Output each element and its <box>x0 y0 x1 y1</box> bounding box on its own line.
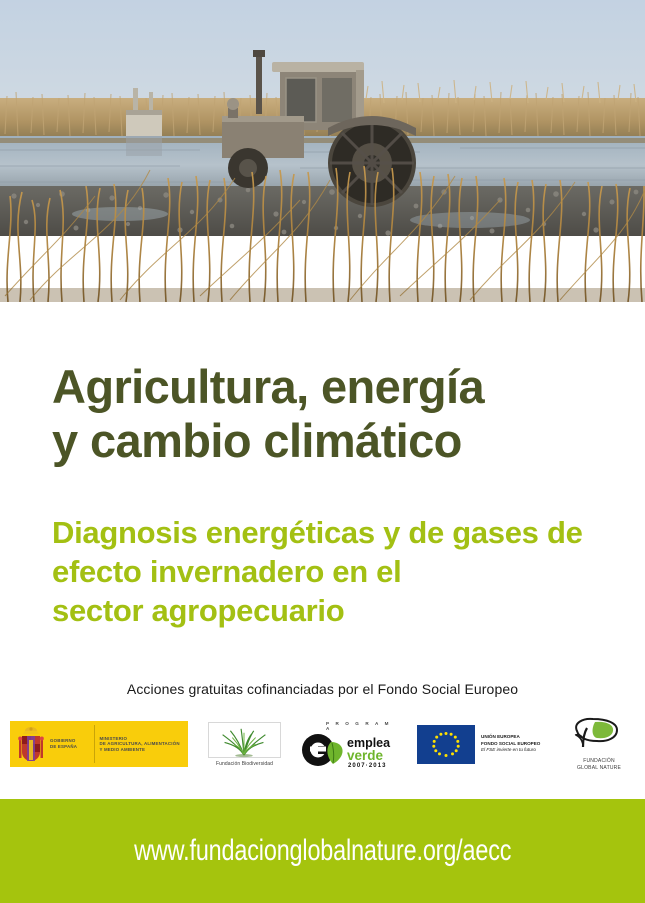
page-title: Agricultura, energía y cambio climático <box>52 360 612 468</box>
emplea-verde-mark: emplea verde 2007·2013 <box>301 732 397 768</box>
years-label: 2007·2013 <box>348 763 387 768</box>
grass-plant-icon <box>209 723 280 758</box>
logo-emplea-verde: P R O G R A M A emplea ver <box>301 721 397 768</box>
subtitle-line-2: efecto invernadero en el <box>52 552 622 591</box>
logo-strip: GOBIERNO DE ESPAÑA MINISTERIO DE AGRICUL… <box>0 712 645 776</box>
logo-gobierno-de-espana: GOBIERNO DE ESPAÑA MINISTERIO DE AGRICUL… <box>10 721 188 767</box>
website-url[interactable]: www.fundacionglobalnature.org/aecc <box>134 834 511 868</box>
subtitle-line-1: Diagnosis energéticas y de gases de <box>52 513 622 552</box>
funding-note: Acciones gratuitas cofinanciadas por el … <box>0 681 645 697</box>
cover-photograph <box>0 0 645 302</box>
gobierno-text: GOBIERNO DE ESPAÑA <box>50 738 89 749</box>
global-nature-caption: FUNDACIÓN GLOBAL NATURE <box>563 758 635 771</box>
fundacion-biodiversidad-caption: Fundación Biodiversidad <box>208 761 281 767</box>
cover-page: Agricultura, energía y cambio climático … <box>0 0 645 903</box>
page-subtitle: Diagnosis energéticas y de gases de efec… <box>52 513 622 630</box>
logo-fundacion-biodiversidad: Fundación Biodiversidad <box>208 722 281 767</box>
spanish-coat-of-arms-icon <box>16 726 46 762</box>
subtitle-line-3: sector agropecuario <box>52 591 622 630</box>
logo-union-europea: UNIÓN EUROPEA FONDO SOCIAL EUROPEO El FS… <box>417 725 543 764</box>
title-line-1: Agricultura, energía <box>52 360 612 414</box>
tree-icon <box>567 717 631 751</box>
programa-label: P R O G R A M A <box>326 721 397 731</box>
footer-bar: www.fundacionglobalnature.org/aecc <box>0 799 645 903</box>
logo-fundacion-global-nature: FUNDACIÓN GLOBAL NATURE <box>563 717 635 771</box>
title-line-2: y cambio climático <box>52 414 612 468</box>
eu-caption: UNIÓN EUROPEA FONDO SOCIAL EUROPEO El FS… <box>481 734 543 753</box>
eu-flag-icon <box>417 725 475 764</box>
ministerio-text: MINISTERIO DE AGRICULTURA, ALIMENTACIÓN … <box>99 736 188 753</box>
verde-word: verde <box>347 748 384 763</box>
photo-illustration <box>0 0 645 302</box>
divider <box>94 725 95 763</box>
